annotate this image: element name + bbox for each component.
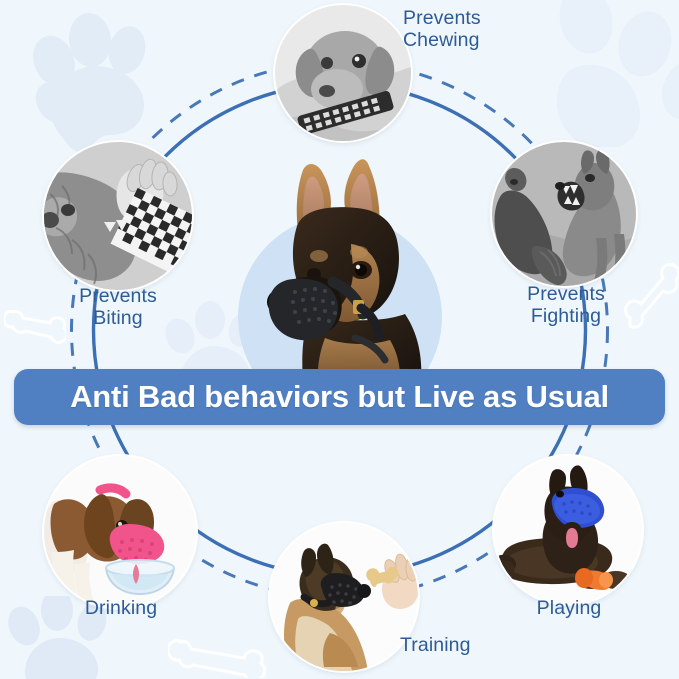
- headline-text: Anti Bad behaviors but Live as Usual: [70, 379, 609, 415]
- node-label: Prevents Biting: [34, 286, 202, 330]
- product-infographic: Prevents Chewing: [0, 0, 679, 679]
- headline-banner: Anti Bad behaviors but Live as Usual: [14, 369, 665, 425]
- paw-print-icon: [540, 0, 679, 147]
- node-label: Prevents Chewing: [403, 8, 523, 52]
- node-prevents-biting[interactable]: Prevents Biting: [44, 142, 184, 282]
- node-photo: [270, 523, 418, 671]
- node-label: Playing: [490, 598, 648, 620]
- node-training[interactable]: Training: [270, 523, 420, 673]
- node-label: Drinking: [38, 598, 204, 620]
- node-label: Prevents Fighting: [486, 284, 646, 328]
- node-drinking[interactable]: Drinking: [44, 456, 194, 606]
- node-photo: [44, 456, 196, 608]
- node-photo: [275, 5, 411, 141]
- node-prevents-fighting[interactable]: Prevents Fighting: [492, 142, 632, 282]
- node-photo: [492, 142, 636, 286]
- node-label: Training: [400, 635, 520, 657]
- node-photo: [494, 456, 642, 604]
- node-prevents-chewing[interactable]: Prevents Chewing: [275, 5, 415, 145]
- node-photo: [44, 142, 192, 290]
- paw-print-icon: [16, 6, 156, 156]
- hero-dog-with-muzzle: [247, 152, 433, 384]
- bone-icon: [168, 632, 278, 678]
- node-playing[interactable]: Playing: [494, 456, 644, 606]
